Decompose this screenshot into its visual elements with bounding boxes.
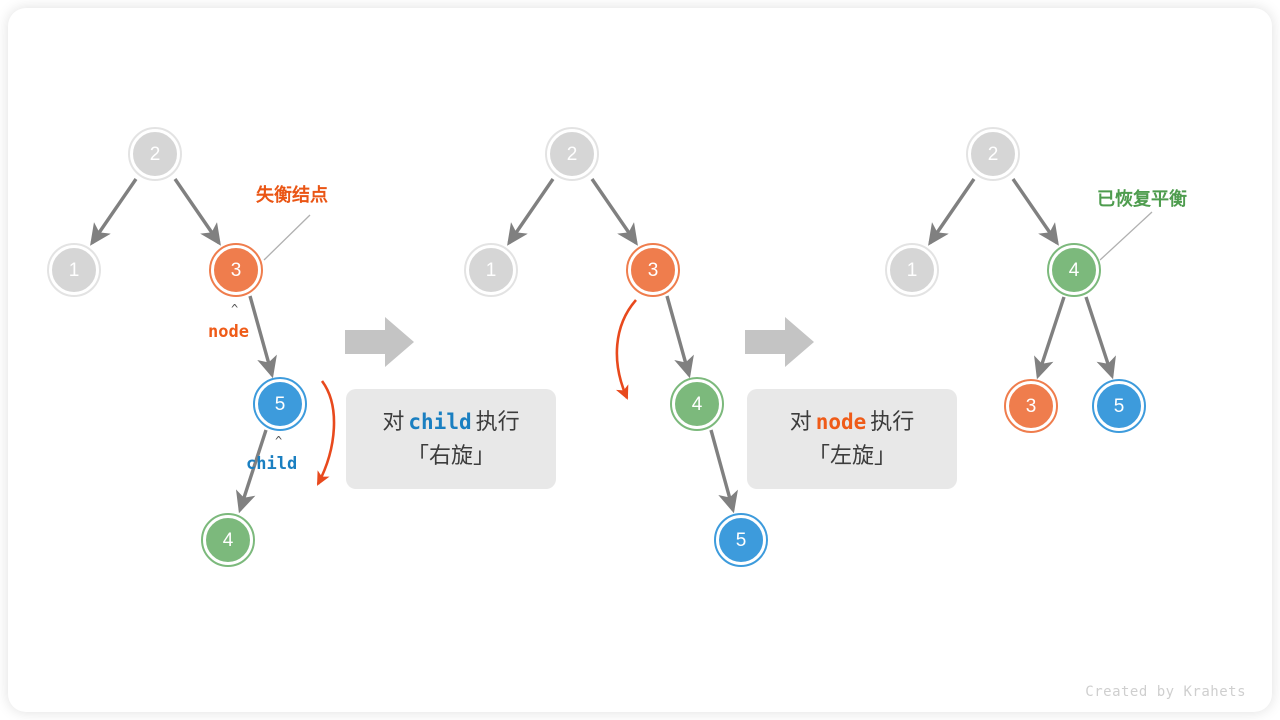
tree3-node-5[interactable]: 5 [1094,381,1144,431]
child-caret-marker: ^ [275,434,282,448]
instruction-line-1: 对child执行 [382,405,519,439]
node-var-label: node [208,322,249,342]
tree1-node-5[interactable]: 5 [255,379,305,429]
tree1-node-2[interactable]: 2 [130,129,180,179]
node-value: 1 [69,261,80,280]
tree2-node-5[interactable]: 5 [716,515,766,565]
instruction-target: child [404,410,475,434]
instruction-line-2: 「右旋」 [407,439,495,473]
node-value: 5 [275,395,286,414]
watermark: Created by Krahets [1085,684,1246,700]
left-rotate-instruction: 对node执行 「左旋」 [747,389,957,489]
step-arrow-1 [345,313,415,371]
node-caret-marker: ^ [231,302,238,316]
rebalanced-label: 已恢复平衡 [1097,185,1187,211]
step-arrow-2 [745,313,815,371]
instruction-prefix: 对 [790,409,812,434]
tree1-node-4[interactable]: 4 [203,515,253,565]
instruction-suffix: 执行 [870,409,914,434]
node-value: 2 [150,145,161,164]
instruction-target: node [812,410,871,434]
instruction-suffix: 执行 [476,409,520,434]
edges-layer [0,0,1280,720]
instruction-prefix: 对 [382,409,404,434]
tree2-node-3[interactable]: 3 [628,245,678,295]
tree3-node-1[interactable]: 1 [887,245,937,295]
tree1-node-1[interactable]: 1 [49,245,99,295]
node-value: 1 [486,261,497,280]
node-value: 4 [1069,261,1080,280]
tree2-node-4[interactable]: 4 [672,379,722,429]
tree3-node-3[interactable]: 3 [1006,381,1056,431]
node-value: 4 [223,531,234,550]
instruction-line-1: 对node执行 [790,405,915,439]
node-value: 2 [988,145,999,164]
instruction-line-2: 「左旋」 [808,439,896,473]
node-value: 5 [1114,397,1125,416]
panel-before-edges [92,179,334,510]
node-value: 3 [231,261,242,280]
node-value: 5 [736,531,747,550]
tree2-node-2[interactable]: 2 [547,129,597,179]
node-value: 3 [1026,397,1037,416]
right-rotate-instruction: 对child执行 「右旋」 [346,389,556,489]
child-var-label: child [246,454,297,474]
tree2-node-1[interactable]: 1 [466,245,516,295]
node-value: 1 [907,261,918,280]
tree1-node-3[interactable]: 3 [211,245,261,295]
node-value: 4 [692,395,703,414]
node-value: 2 [567,145,578,164]
tree3-node-2[interactable]: 2 [968,129,1018,179]
unbalanced-node-label: 失衡结点 [256,181,328,207]
diagram-stage: 2 1 3 5 4 失衡结点 ^ node ^ child 对child执行 「… [0,0,1280,720]
node-value: 3 [648,261,659,280]
tree3-node-4[interactable]: 4 [1049,245,1099,295]
